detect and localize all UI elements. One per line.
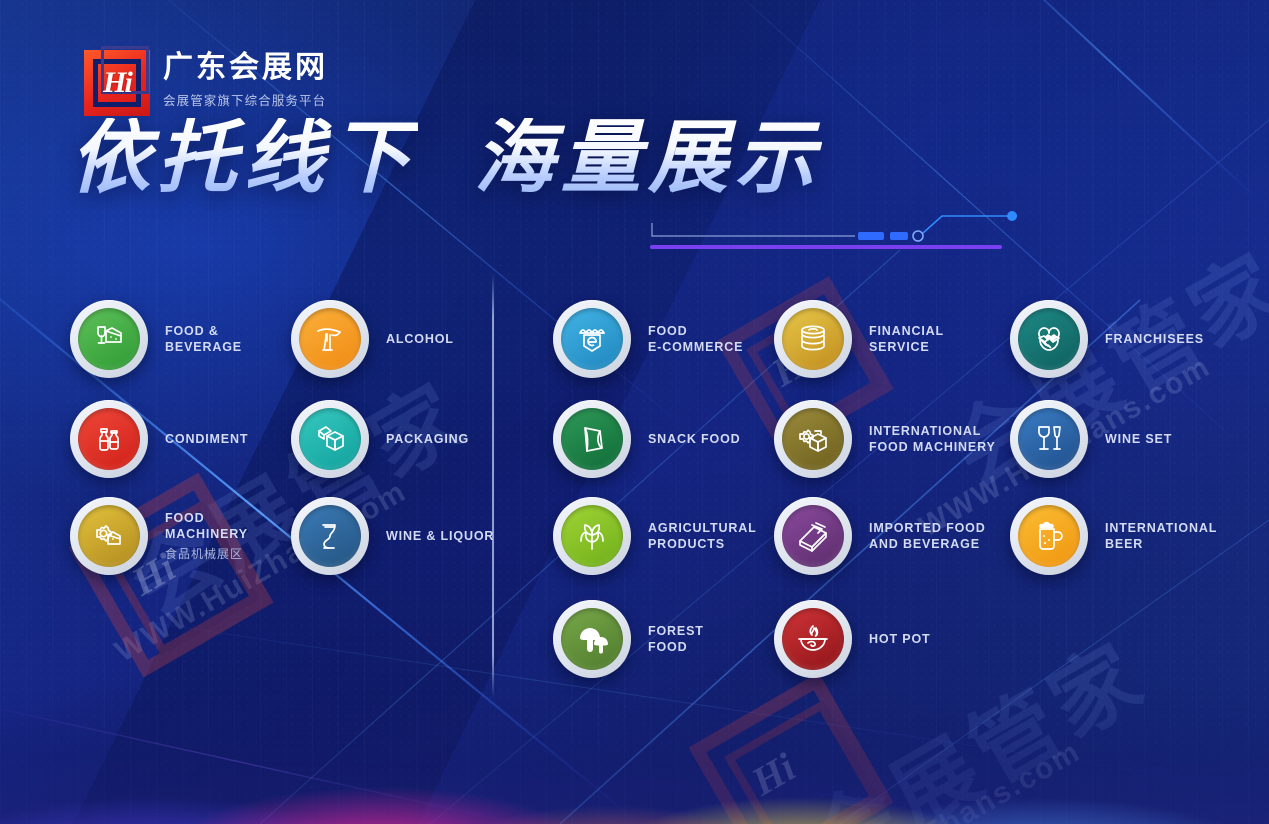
category-label-financial-service: FINANCIAL SERVICE: [869, 323, 999, 355]
category-label-en-forest-food: FOREST FOOD: [648, 623, 768, 655]
category-badge-forest-food: [553, 600, 631, 678]
category-item-financial-service[interactable]: FINANCIAL SERVICE: [774, 300, 999, 378]
category-item-snack-food[interactable]: SNACK FOOD: [553, 400, 768, 478]
category-item-international-beer[interactable]: INTERNATIONAL BEER: [1010, 497, 1235, 575]
category-label-en-alcohol: ALCOHOL: [386, 331, 506, 347]
category-item-imported-food-beverage[interactable]: IMPORTED FOOD AND BEVERAGE: [774, 497, 999, 575]
hi-monogram-logo-icon: Hi: [84, 50, 150, 116]
category-item-condiment[interactable]: CONDIMENT: [70, 400, 285, 478]
category-badge-international-beer: [1010, 497, 1088, 575]
shop-e-icon: [561, 308, 623, 370]
mushrooms-icon: [561, 608, 623, 670]
category-item-agricultural-products[interactable]: AGRICULTURAL PRODUCTS: [553, 497, 768, 575]
category-label-food-ecommerce: FOOD E-COMMERCE: [648, 323, 768, 355]
category-label-packaging: PACKAGING: [386, 431, 506, 447]
snack-bag-icon: [561, 408, 623, 470]
category-badge-franchisees: [1010, 300, 1088, 378]
headline: 依托线下 海量展示: [70, 118, 822, 198]
category-label-en-international-food-machinery: INTERNATIONAL FOOD MACHINERY: [869, 423, 999, 455]
category-label-hot-pot: HOT POT: [869, 631, 999, 647]
category-label-en-agricultural-products: AGRICULTURAL PRODUCTS: [648, 520, 768, 552]
category-badge-wine-liquor: [291, 497, 369, 575]
category-label-condiment: CONDIMENT: [165, 431, 285, 447]
beer-mug-icon: [1018, 505, 1080, 567]
category-label-en-packaging: PACKAGING: [386, 431, 506, 447]
open-box-icon: [299, 408, 361, 470]
category-item-food-machinery[interactable]: FOOD MACHINERY食品机械展区: [70, 497, 285, 575]
poster-canvas: 会展管家 WWW.HuiZhans.com 会展管家 WWW.HuiZhans.…: [0, 0, 1269, 824]
category-badge-food-ecommerce: [553, 300, 631, 378]
category-badge-food-beverage: [70, 300, 148, 378]
coin-stack-icon: [782, 308, 844, 370]
category-badge-alcohol: [291, 300, 369, 378]
headline-right: 海量展示: [474, 118, 822, 198]
category-label-alcohol: ALCOHOL: [386, 331, 506, 347]
category-item-forest-food[interactable]: FOREST FOOD: [553, 600, 768, 678]
category-label-en-franchisees: FRANCHISEES: [1105, 331, 1235, 347]
category-badge-condiment: [70, 400, 148, 478]
watermark-logo-bottom: Hi: [689, 673, 894, 824]
wheat-icon: [561, 505, 623, 567]
category-label-en-food-machinery: FOOD MACHINERY: [165, 510, 285, 542]
category-label-en-hot-pot: HOT POT: [869, 631, 999, 647]
category-item-alcohol[interactable]: ALCOHOL: [291, 300, 506, 378]
category-label-en-imported-food-beverage: IMPORTED FOOD AND BEVERAGE: [869, 520, 999, 552]
wine-glass-cheese-icon: [78, 308, 140, 370]
gear-box-icon: [782, 408, 844, 470]
category-label-snack-food: SNACK FOOD: [648, 431, 768, 447]
category-badge-international-food-machinery: [774, 400, 852, 478]
category-label-en-snack-food: SNACK FOOD: [648, 431, 768, 447]
category-badge-imported-food-beverage: [774, 497, 852, 575]
category-item-franchisees[interactable]: FRANCHISEES: [1010, 300, 1235, 378]
bottom-glow-strip: [0, 674, 1269, 824]
pouring-wine-icon: [299, 308, 361, 370]
category-label-food-beverage: FOOD & BEVERAGE: [165, 323, 285, 355]
category-label-en-condiment: CONDIMENT: [165, 431, 285, 447]
headline-left: 依托线下: [70, 118, 418, 198]
category-label-en-food-ecommerce: FOOD E-COMMERCE: [648, 323, 768, 355]
category-label-en-food-beverage: FOOD & BEVERAGE: [165, 323, 285, 355]
category-item-food-beverage[interactable]: FOOD & BEVERAGE: [70, 300, 285, 378]
category-badge-snack-food: [553, 400, 631, 478]
sauce-bottles-icon: [78, 408, 140, 470]
category-label-food-machinery: FOOD MACHINERY食品机械展区: [165, 510, 285, 562]
category-item-food-ecommerce[interactable]: FOOD E-COMMERCE: [553, 300, 768, 378]
category-badge-financial-service: [774, 300, 852, 378]
category-badge-wine-set: [1010, 400, 1088, 478]
category-label-imported-food-beverage: IMPORTED FOOD AND BEVERAGE: [869, 520, 999, 552]
watermark-url-bottom: WWW.HuiZhans.com: [784, 735, 1087, 824]
two-glasses-icon: [1018, 408, 1080, 470]
category-label-wine-liquor: WINE & LIQUOR: [386, 528, 506, 544]
decorative-tech-line: [650, 205, 1020, 253]
brand-logo[interactable]: Hi 广东会展网 会展管家旗下综合服务平台: [84, 50, 328, 116]
category-label-international-food-machinery: INTERNATIONAL FOOD MACHINERY: [869, 423, 999, 455]
goblet-icon: [299, 505, 361, 567]
category-item-hot-pot[interactable]: HOT POT: [774, 600, 999, 678]
category-item-packaging[interactable]: PACKAGING: [291, 400, 506, 478]
category-badge-agricultural-products: [553, 497, 631, 575]
category-label-wine-set: WINE SET: [1105, 431, 1235, 447]
category-label-en-wine-liquor: WINE & LIQUOR: [386, 528, 506, 544]
category-item-wine-liquor[interactable]: WINE & LIQUOR: [291, 497, 506, 575]
category-label-international-beer: INTERNATIONAL BEER: [1105, 520, 1235, 552]
category-label-agricultural-products: AGRICULTURAL PRODUCTS: [648, 520, 768, 552]
brand-name: 广东会展网: [163, 52, 328, 84]
open-parcel-icon: [782, 505, 844, 567]
category-label-en-wine-set: WINE SET: [1105, 431, 1235, 447]
category-label-franchisees: FRANCHISEES: [1105, 331, 1235, 347]
brand-tagline: 会展管家旗下综合服务平台: [163, 90, 328, 109]
category-badge-food-machinery: [70, 497, 148, 575]
category-badge-hot-pot: [774, 600, 852, 678]
watermark-cn-left: 会展管家: [103, 346, 484, 638]
category-label-cn-food-machinery: 食品机械展区: [165, 545, 285, 562]
category-label-en-international-beer: INTERNATIONAL BEER: [1105, 520, 1235, 552]
gear-cheese-icon: [78, 505, 140, 567]
category-badge-packaging: [291, 400, 369, 478]
category-label-forest-food: FOREST FOOD: [648, 623, 768, 655]
hotpot-flame-icon: [782, 608, 844, 670]
handshake-heart-icon: [1018, 308, 1080, 370]
category-label-en-financial-service: FINANCIAL SERVICE: [869, 323, 999, 355]
category-item-international-food-machinery[interactable]: INTERNATIONAL FOOD MACHINERY: [774, 400, 999, 478]
category-item-wine-set[interactable]: WINE SET: [1010, 400, 1235, 478]
